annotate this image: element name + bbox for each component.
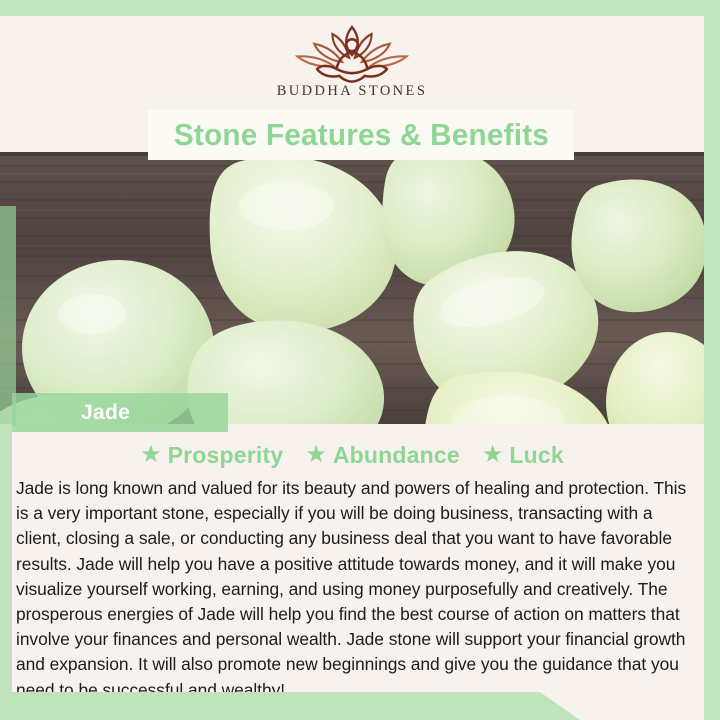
- benefit-label: Prosperity: [168, 442, 284, 469]
- brand-header: BUDDHA STONES: [0, 16, 704, 106]
- description-section: ★ Prosperity ★ Abundance ★ Luck Jade is …: [0, 424, 704, 720]
- stone-photo: [0, 152, 704, 424]
- star-icon: ★: [140, 443, 162, 467]
- benefit-item: ★ Abundance: [305, 442, 460, 469]
- description-left-accent-bar: [0, 424, 12, 712]
- star-icon: ★: [482, 443, 504, 467]
- star-icon: ★: [305, 443, 327, 467]
- bottom-accent-band: [0, 692, 580, 720]
- description-text: Jade is long known and valued for its be…: [16, 476, 696, 703]
- benefit-item: ★ Prosperity: [140, 442, 283, 469]
- benefits-row: ★ Prosperity ★ Abundance ★ Luck: [0, 442, 704, 469]
- page-title: Stone Features & Benefits: [173, 117, 548, 153]
- benefit-label: Abundance: [333, 442, 460, 469]
- brand-name: BUDDHA STONES: [277, 83, 428, 100]
- title-banner: Stone Features & Benefits: [148, 110, 574, 160]
- stone-name-label: Jade: [81, 401, 130, 425]
- benefit-label: Luck: [509, 442, 563, 469]
- benefit-item: ★ Luck: [482, 442, 564, 469]
- content-card: BUDDHA STONES Stone Features & Benefits: [0, 16, 704, 720]
- lotus-meditation-figure-icon: [282, 20, 422, 82]
- infographic-page: BUDDHA STONES Stone Features & Benefits: [0, 0, 720, 720]
- stone-name-band: Jade: [12, 393, 228, 432]
